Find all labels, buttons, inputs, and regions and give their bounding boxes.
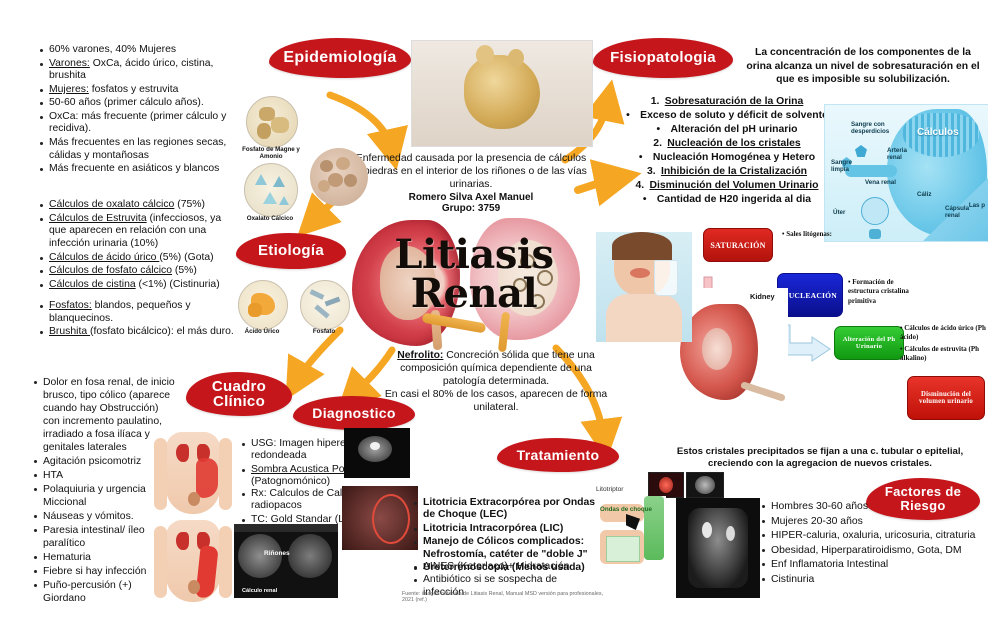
disease-definition-text: Enfermedad causada por la presencia de c…	[355, 152, 587, 191]
section-badge-epidemiologia-label: Epidemiología	[283, 50, 396, 67]
infographic-canvas: Litiasis Renal Enfermedad causada por la…	[0, 0, 988, 640]
label-sangre-desperdicios: Sangre con desperdicios	[851, 121, 895, 135]
author-block: Romero Silva Axel Manuel Grupo: 3759	[355, 193, 587, 214]
flow-note-sales: Sales litógenas:	[782, 230, 852, 239]
caption-fosfato: Fosfato	[298, 329, 350, 336]
list-item: Cálculos de fosfato cálcico (5%)	[40, 265, 238, 278]
list-item: Mujeres: fosfatos y estruvita	[40, 84, 244, 97]
crystal-image-fosfato	[300, 280, 350, 330]
ct-scan-image: Riñones Cálculo renal	[234, 524, 338, 598]
nefrolito-label: Nefrolito:	[397, 350, 443, 361]
epidemiologia-list-1: 60% varones, 40% Mujeres Varones: OxCa, …	[26, 44, 244, 98]
flow-box-saturacion: SATURACIÓN	[703, 228, 773, 262]
torso-illustration-2	[152, 518, 234, 604]
list-item: Mujeres 20-30 años	[762, 515, 984, 529]
section-badge-fisiopatologia-label: Fisiopatologia	[610, 50, 716, 66]
kidney-photo: Kidney	[678, 288, 788, 408]
list-item: Cálculos de ácido úrico (5%) (Gota)	[40, 252, 238, 265]
micro-photo-1	[648, 472, 684, 498]
section-badge-epidemiologia[interactable]: Epidemiología	[269, 38, 411, 78]
list-item: 1.Sobresaturación de la Orina	[618, 95, 836, 109]
kidney-photo-label: Kidney	[750, 292, 775, 301]
label-uter: Úter	[833, 209, 845, 216]
list-item: 3.Inhibición de la Cristalización	[618, 165, 836, 179]
crystal-image-fosfato-magnesio	[246, 96, 298, 148]
caption-acido-urico: Ácido Úrico	[233, 329, 291, 336]
crystals-note: Estos cristales precipitados se fijan a …	[655, 446, 985, 469]
arrow-cuadro-clinico	[296, 330, 340, 382]
list-item: Cálculos de oxalato cálcico (75%)	[40, 199, 238, 212]
nefrolito-definition: Nefrolito: Concreción sólida que tiene u…	[382, 349, 610, 414]
label-calculos: Cálculos	[917, 127, 959, 138]
section-badge-cuadro-clinico-line2: Clínico	[213, 394, 265, 409]
label-arteria-renal: Arteria renal	[887, 147, 921, 161]
author-group: Grupo: 3759	[355, 204, 587, 215]
list-item: 60% varones, 40% Mujeres	[40, 44, 244, 57]
flow-note-formacion: Formación de estructura cristalina primi…	[848, 278, 920, 306]
list-item: HIPER-caluria, oxaluria, uricosuria, cit…	[762, 529, 984, 543]
tratamiento-footnote: Fuente: imagen obtenida de Litiasis Rena…	[402, 592, 612, 604]
ct-image-caption2: Cálculo renal	[242, 588, 277, 594]
list-item: 2.Nucleación de los cristales	[618, 137, 836, 151]
caption-oxalato-calcico: Oxalato Cálcico	[238, 216, 302, 223]
section-badge-etiologia[interactable]: Etiología	[236, 233, 346, 269]
section-badge-diagnostico[interactable]: Diagnostico	[293, 396, 415, 430]
factores-riesgo-list: Hombres 30-60 años Mujeres 20-30 años HI…	[748, 500, 984, 587]
list-item: OxCa: más frecuente (primer cálculo y re…	[40, 111, 236, 136]
fisiopatologia-intro: La concentración de los componentes de l…	[744, 46, 982, 87]
staghorn-stone-photo	[411, 40, 593, 147]
section-badge-etiologia-label: Etiología	[258, 243, 324, 259]
list-item: Brushita (fosfato bicálcico): el más dur…	[40, 326, 238, 339]
list-item: Enf Inflamatoria Intestinal	[762, 558, 984, 572]
section-badge-tratamiento-label: Tratamiento	[517, 448, 600, 463]
list-item: Fosfatos: blandos, pequeños y blanquecin…	[40, 300, 238, 325]
fisiopatologia-steps: 1.Sobresaturación de la Orina •Exceso de…	[618, 95, 836, 207]
crystal-image-oxalato-calcico	[244, 163, 298, 217]
label-vena-renal: Vena renal	[865, 179, 896, 186]
list-item: Cálculos de Estruvita (infecciosos, ya q…	[40, 213, 238, 251]
label-las-p: Las p	[969, 202, 985, 209]
section-badge-cuadro-clinico-line1: Cuadro	[212, 379, 266, 394]
label-caliz: Cáliz	[917, 191, 931, 198]
section-badge-tratamiento[interactable]: Tratamiento	[497, 438, 619, 472]
page-title: Litiasis Renal	[378, 236, 570, 314]
list-item: 50-60 años (primer cálculo años).	[40, 97, 236, 110]
list-item: •Exceso de soluto y déficit de solvente	[618, 109, 836, 123]
list-item: Hombres 30-60 años	[762, 500, 984, 514]
etiologia-properties-list: Fosfatos: blandos, pequeños y blanquecin…	[26, 300, 238, 340]
list-item: AINES (Ketorlaco)+ Hidratación	[414, 561, 600, 573]
section-badge-cuadro-clinico[interactable]: Cuadro Clínico	[186, 372, 292, 416]
flow-box-disminucion-volumen: Disminución del volumen urinario	[907, 376, 985, 420]
author-name: Romero Silva Axel Manuel	[355, 193, 587, 204]
list-item: Más frecuente en asiáticos y blancos	[40, 163, 236, 176]
litotriptor-caption: Litotriptor	[596, 486, 624, 493]
flow-box-alteracion-ph: Alteración del Ph Urinario	[834, 326, 904, 360]
page-title-text: Litiasis Renal	[394, 231, 553, 317]
list-item: •Nucleación Homogénea y Hetero	[618, 151, 836, 165]
nefrolito-text2: En casi el 80% de los casos, aparecen de…	[382, 388, 610, 414]
ct-image-caption: Riñones	[264, 550, 290, 557]
kidney-anatomy-diagram: Cálculos Sangre con desperdicios Sangre …	[824, 104, 988, 242]
ultrasound-image	[344, 428, 410, 478]
flow-note-acido-urico: Cálculos de ácido úrico (Ph ácido) Cálcu…	[900, 324, 986, 364]
list-item: Más frecuentes en las regiones secas, cá…	[40, 137, 236, 162]
list-item: Litotricia Extracorpórea por Ondas de Ch…	[414, 497, 600, 522]
list-item: 4.Disminución del Volumen Urinario	[618, 179, 836, 193]
section-badge-fisiopatologia[interactable]: Fisiopatologia	[593, 38, 733, 78]
list-item: Litotricia Intracorpórea (LIC)	[414, 523, 600, 535]
ondas-choque-caption: Ondas de choque	[600, 506, 652, 513]
micro-photo-2	[686, 472, 724, 498]
caption-fosfato-magnesio: Fosfato de Magne y Amonio	[240, 147, 302, 160]
list-item: •Alteración del pH urinario	[618, 123, 836, 137]
list-item: Obesidad, Hiperparatiroidismo, Gota, DM	[762, 544, 984, 558]
disease-definition: Enfermedad causada por la presencia de c…	[355, 152, 587, 214]
hydration-photo	[596, 232, 692, 342]
list-item: Manejo de Cólicos complicados: Nefrostom…	[414, 536, 600, 561]
crystal-image-acido-urico	[238, 280, 288, 330]
torso-illustration-1	[152, 430, 234, 516]
arrow-epidemiologia	[330, 95, 392, 150]
label-sangre-limpia: Sangre limpia	[831, 159, 861, 173]
section-badge-diagnostico-label: Diagnostico	[312, 406, 395, 421]
section-badge-factores-riesgo-line1: Factores de	[885, 485, 961, 499]
list-item: Cálculos de cistina (<1%) (Cistinuria)	[40, 279, 238, 292]
list-item: Cistinuria	[762, 573, 984, 587]
epidemiologia-list-2: 50-60 años (primer cálculo años). OxCa: …	[26, 97, 236, 177]
stone-cluster-image	[310, 148, 368, 206]
etiologia-types-list: Cálculos de oxalato cálcico (75%) Cálcul…	[26, 199, 238, 293]
list-item: Varones: OxCa, ácido úrico, cistina, bru…	[40, 58, 244, 83]
list-item: •Cantidad de H20 ingerida al dia	[618, 193, 836, 207]
